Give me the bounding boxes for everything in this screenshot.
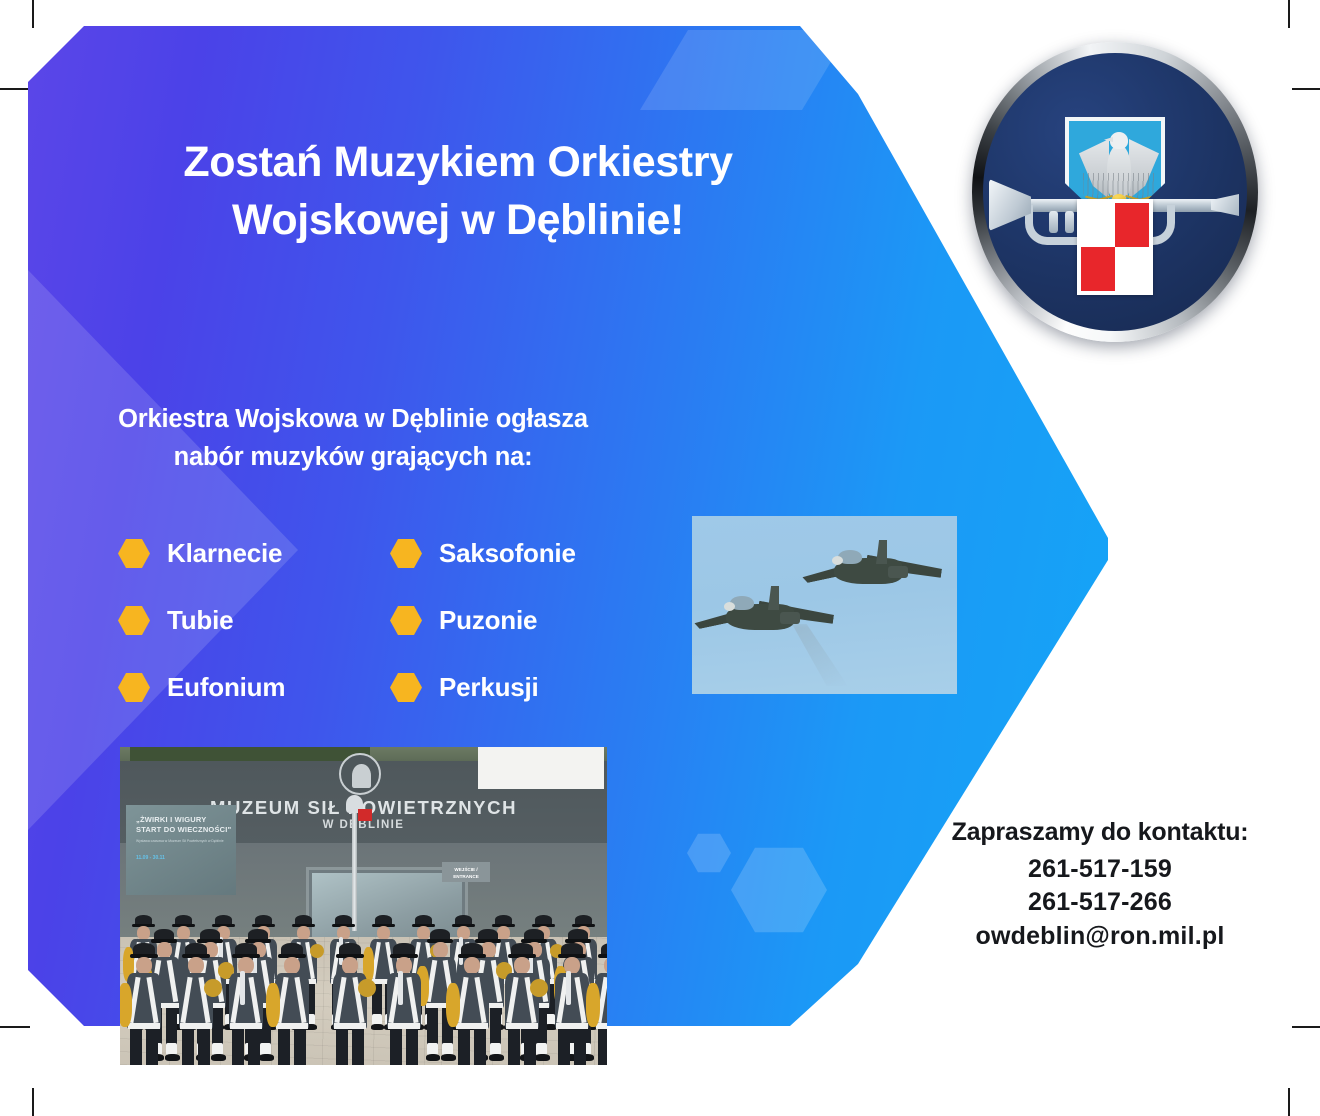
page-title: Zostań Muzykiem Orkiestry Wojskowej w Dę… [78, 134, 838, 249]
instrument-label: Saksofonie [439, 538, 576, 569]
subtitle: Orkiestra Wojskowa w Dęblinie ogłasza na… [38, 400, 668, 477]
band-member-leg [198, 1029, 210, 1065]
crop-mark-bottom-right-vertical [1288, 1088, 1290, 1116]
poster-canvas: Zostań Muzykiem Orkiestry Wojskowej w Dę… [0, 0, 1320, 1116]
band-member-leg [390, 1029, 402, 1065]
band-member-face [433, 942, 448, 958]
band-member [174, 943, 218, 1065]
checker-cell [1081, 247, 1115, 291]
jet-exhaust [888, 566, 908, 578]
band-member-leg [474, 1029, 486, 1065]
entrance-sign: WEJŚCIE / ENTRANCE [442, 862, 490, 882]
band-member-face [188, 957, 204, 974]
orchestra-emblem [972, 42, 1258, 342]
instrument-label: Eufonium [167, 672, 285, 703]
instrument-list: Klarnecie Saksofonie Tubie Puzonie Eufon… [118, 520, 678, 721]
crop-mark-top-left-vertical [32, 0, 34, 28]
checker-cell [1115, 203, 1149, 247]
exhibition-poster-date: 11.09 - 30.11 [136, 855, 165, 861]
jet-exhaust [780, 612, 800, 624]
jet-nose [724, 602, 735, 611]
band-member [500, 943, 544, 1065]
band-member-leg [508, 1029, 520, 1065]
band-member-instrument [204, 979, 222, 997]
contact-heading: Zapraszamy do kontaktu: [930, 818, 1270, 847]
crop-mark-bottom-left-horizontal [0, 1026, 30, 1028]
crop-mark-top-left-horizontal [0, 88, 30, 90]
hexagon-bullet-icon [118, 673, 150, 702]
emblem-navy-face [983, 53, 1247, 331]
exhibition-poster-title: „ŻWIRKI I WIGURY START DO WIECZNOŚCI" [136, 815, 234, 835]
band-member-shoe [426, 1054, 441, 1061]
list-item: Eufonium [118, 672, 390, 703]
band-member-leg [278, 1029, 290, 1065]
drum-major-mace-tassel [358, 809, 372, 821]
subtitle-line-2: nabór muzyków grających na: [174, 443, 533, 471]
band-member-leg [406, 1029, 418, 1065]
band-member-instrument [566, 971, 571, 1005]
band-member-leg [598, 1029, 607, 1065]
band-member-leg [182, 1029, 194, 1065]
bugle-mouthpiece-icon [1211, 194, 1239, 216]
drum-major-mace [352, 803, 357, 931]
list-item: Puzonie [390, 605, 662, 636]
contact-email[interactable]: owdeblin@ron.mil.pl [930, 920, 1270, 953]
band-member-face [297, 926, 310, 940]
band-member [122, 943, 166, 1065]
photo-military-band: MUZEUM SIŁ POWIETRZNYCH W DĘBLINIE WEJŚC… [120, 747, 607, 1065]
band-member-face [342, 957, 358, 974]
list-item: Saksofonie [390, 538, 662, 569]
band-member-face [284, 957, 300, 974]
exhibition-poster: „ŻWIRKI I WIGURY START DO WIECZNOŚCI" Wy… [126, 805, 236, 895]
band-member-leg [458, 1029, 470, 1065]
jet-tail-fin [768, 586, 779, 610]
jet-nose [832, 556, 843, 565]
photo-jet-aircraft [692, 516, 957, 694]
band-member [224, 943, 268, 1065]
instrument-label: Perkusji [439, 672, 539, 703]
band-member-instrument [586, 983, 600, 1027]
contact-block: Zapraszamy do kontaktu: 261-517-159 261-… [930, 818, 1270, 953]
band-member [450, 943, 494, 1065]
subtitle-line-1: Orkiestra Wojskowa w Dęblinie ogłasza [118, 405, 588, 433]
polish-air-force-checkerboard-icon [1077, 199, 1153, 295]
bugle-valve-icon [1049, 211, 1058, 233]
band-member-leg [248, 1029, 260, 1065]
list-item: Tubie [118, 605, 390, 636]
band-member-face [514, 957, 530, 974]
band-member-leg [232, 1029, 244, 1065]
museum-white-panel [478, 747, 604, 789]
band-member-instrument [398, 971, 403, 1005]
band-member-leg [352, 1029, 364, 1065]
band-member-instrument [530, 979, 548, 997]
band-member-face [377, 926, 390, 940]
band-member-leg [336, 1029, 348, 1065]
crop-mark-bottom-left-vertical [32, 1088, 34, 1116]
band-member-instrument [240, 971, 245, 1005]
checker-cell [1081, 203, 1115, 247]
band-member-instrument [120, 983, 132, 1027]
list-item: Perkusji [390, 672, 662, 703]
crop-mark-top-right-horizontal [1292, 88, 1320, 90]
band-member-instrument [358, 979, 376, 997]
band-member-cap-brim [598, 954, 607, 958]
title-line-1: Zostań Muzykiem Orkiestry [183, 138, 732, 186]
crop-mark-top-right-vertical [1288, 0, 1290, 28]
hexagon-bullet-icon [118, 606, 150, 635]
bugle-valve-icon [1065, 211, 1074, 233]
instrument-label: Puzonie [439, 605, 537, 636]
list-item: Klarnecie [118, 538, 390, 569]
band-member-instrument [266, 983, 280, 1027]
band-member-leg [574, 1029, 586, 1065]
band-member-leg [130, 1029, 142, 1065]
contact-phone-2[interactable]: 261-517-266 [930, 886, 1270, 919]
hexagon-bullet-icon [390, 606, 422, 635]
band-member-face [604, 957, 607, 974]
band-member-leg [558, 1029, 570, 1065]
band-member [382, 943, 426, 1065]
band-member-face [136, 957, 152, 974]
contact-phone-1[interactable]: 261-517-159 [930, 853, 1270, 886]
band-member-leg [524, 1029, 536, 1065]
title-line-2: Wojskowej w Dęblinie! [78, 192, 838, 250]
museum-logo-icon [339, 753, 381, 795]
band-member-instrument [446, 983, 460, 1027]
band-member-face [464, 957, 480, 974]
band-member [270, 943, 314, 1065]
hexagon-bullet-icon [118, 539, 150, 568]
instrument-label: Klarnecie [167, 538, 282, 569]
instrument-label: Tubie [167, 605, 233, 636]
band-member-leg [294, 1029, 306, 1065]
hexagon-bullet-icon [390, 539, 422, 568]
band-member-leg [427, 1008, 438, 1045]
band-member [328, 943, 372, 1065]
band-member [590, 943, 607, 1065]
hexagon-bullet-icon [390, 673, 422, 702]
band-member-leg [146, 1029, 158, 1065]
exhibition-poster-subtitle: Wystawa czasowa w Muzeum Sił Powietrznyc… [136, 839, 234, 844]
checker-cell [1115, 247, 1149, 291]
crop-mark-bottom-right-horizontal [1292, 1026, 1320, 1028]
jet-tail-fin [876, 540, 887, 564]
